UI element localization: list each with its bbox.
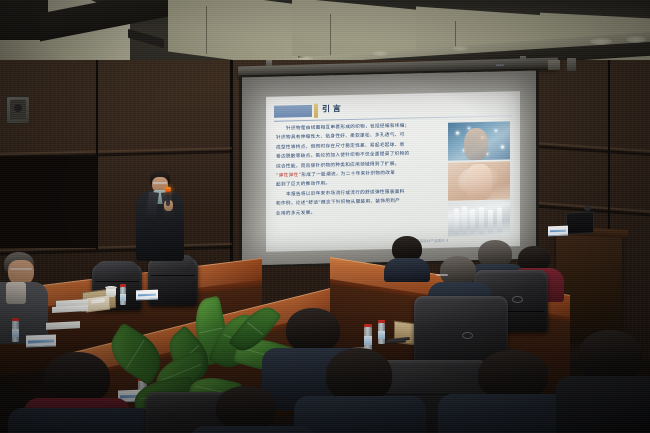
- textile-tube: [497, 208, 502, 233]
- chair-seam: [95, 281, 139, 282]
- bottle-label: [12, 329, 19, 337]
- wall-vertical-seam-left: [96, 60, 98, 250]
- wall-speaker: [6, 96, 30, 124]
- audience-shoulders: [294, 396, 426, 433]
- bottle-label: [120, 294, 126, 301]
- bottle-label: [364, 336, 372, 345]
- tissue-slot: [91, 298, 105, 303]
- audience-foreground-left: [16, 352, 146, 433]
- name-card-text-line: [550, 229, 567, 232]
- microphone-indicator-light: [165, 187, 171, 192]
- audience-glasses: [10, 268, 32, 270]
- audience-hair: [578, 330, 642, 382]
- audience-hair: [478, 350, 548, 400]
- slide-line: 针织物具有伸缩性大、贴身性好、柔软蓬松、多孔透气、可: [276, 131, 442, 141]
- textile-tube: [488, 210, 493, 233]
- name-card: [548, 226, 568, 237]
- downlight-7: [590, 38, 612, 45]
- leaf-vein: [247, 322, 264, 336]
- presenter: [128, 170, 190, 278]
- slide-highlight-term: “弹性弹性”: [276, 173, 301, 179]
- slide-body-text: 针织物是由线圈相互串套形成的织物，包括经编和纬编； 针织物具有伸缩性大、贴身性好…: [276, 122, 442, 242]
- slide-image-skin: [448, 161, 510, 200]
- audience-hair: [286, 308, 340, 352]
- audience-hair: [326, 348, 392, 402]
- audience-shirt: [6, 282, 26, 304]
- powerpoint-slide: 引 言 针织物是由线圈相互串套形成的织物，包括经编和纬编； 针织物具有伸缩性大、…: [266, 91, 520, 252]
- textile-tube: [462, 206, 467, 234]
- audience-shoulders: [190, 426, 316, 433]
- tissue-box: [86, 295, 110, 313]
- textile-tube: [470, 209, 475, 233]
- audience-hair: [216, 386, 276, 430]
- name-card: [26, 334, 56, 347]
- textile-tube: [479, 207, 484, 234]
- slide-line: 起到了巨大的推动作用。: [276, 178, 442, 188]
- name-card-text-line: [28, 339, 53, 343]
- slide-highlight-rest: 形成了一股潮流，为二十年来针织物的改革: [301, 171, 395, 178]
- slide-line: 卷边脱散等缺点。氨纶的加入使针织物不仅全面提高了织物的: [276, 150, 442, 160]
- audience-shoulders: [8, 408, 154, 433]
- sparkle-dot: [495, 130, 497, 132]
- screen-housing-brand-label: ●●●●: [496, 63, 504, 67]
- slide-title-gold-bar: [314, 104, 318, 118]
- conference-room-photo: ●●●● 引 言 针织物是由线圈相互串套形成的织物，包括经编和纬编； 针织物具有…: [0, 0, 650, 433]
- tea-cup: [106, 288, 116, 297]
- water-bottle: [120, 284, 126, 305]
- slide-image-blue: [448, 121, 510, 160]
- water-bottle: [378, 320, 385, 344]
- chair-logo: [462, 332, 473, 339]
- lectern-mic-base: [584, 206, 591, 211]
- slide-line: 针织物是由线圈相互串套形成的织物，包括经编和纬编；: [286, 122, 442, 132]
- ceiling-seam-1: [206, 6, 207, 54]
- slide-line: 综合性能，而且使针织物的种类和应用领域得到了扩展。: [276, 159, 442, 169]
- audience-foreground-right: [568, 330, 650, 433]
- sparkle-dot: [456, 132, 459, 135]
- ceiling-seam-2: [330, 14, 331, 58]
- water-bottle: [12, 318, 19, 342]
- slide-title-accent-rect: [274, 105, 312, 118]
- downlight-6: [452, 46, 468, 51]
- handheld-microphone: [166, 190, 170, 206]
- presenter-glasses: [153, 182, 167, 184]
- slide-line: 本报告将以近年来市场流行或流行的舒适弹性服装面料: [286, 188, 442, 198]
- textile-tube: [454, 209, 459, 235]
- slide-line: 和作例，论述“舒适”概念下针织物从服装用、装饰用到产: [276, 197, 442, 207]
- screen-side-mount: [567, 58, 576, 71]
- screen-housing-endcap: [548, 60, 560, 70]
- slide-line: 业用的多元发展。: [276, 206, 442, 216]
- chair-logo: [512, 296, 523, 303]
- slide-line: 成型性等特点，但同时存在尺寸稳定性差、易起毛起球、易: [276, 141, 442, 151]
- slide-title: 引 言: [322, 105, 341, 113]
- downlight-5: [372, 51, 388, 56]
- audience-glasses: [436, 274, 448, 276]
- speaker-driver-dot: [14, 104, 22, 112]
- audience-shoulders: [384, 258, 430, 282]
- slide-image-white: [448, 201, 510, 236]
- bottle-label: [378, 331, 385, 339]
- wall-recess-left: [0, 156, 96, 248]
- slide-image-figure: [464, 128, 488, 161]
- slide-line-highlight: “弹性弹性”形成了一股潮流，为二十年来针织物的改革: [276, 169, 442, 179]
- water-bottle: [364, 324, 372, 350]
- audience-hair: [44, 352, 110, 404]
- audience-far-back: [386, 236, 428, 280]
- slide-image-torso: [466, 164, 492, 201]
- sparkle-dot: [501, 145, 504, 148]
- audience-shoulders: [556, 376, 650, 433]
- audience-left-seated: [0, 252, 52, 344]
- audience-foreground-center: [300, 348, 418, 433]
- cup-lid: [105, 286, 117, 289]
- audience-front-left: [196, 386, 306, 433]
- downlight-8: [626, 36, 646, 43]
- lectern-monitor: [566, 211, 594, 234]
